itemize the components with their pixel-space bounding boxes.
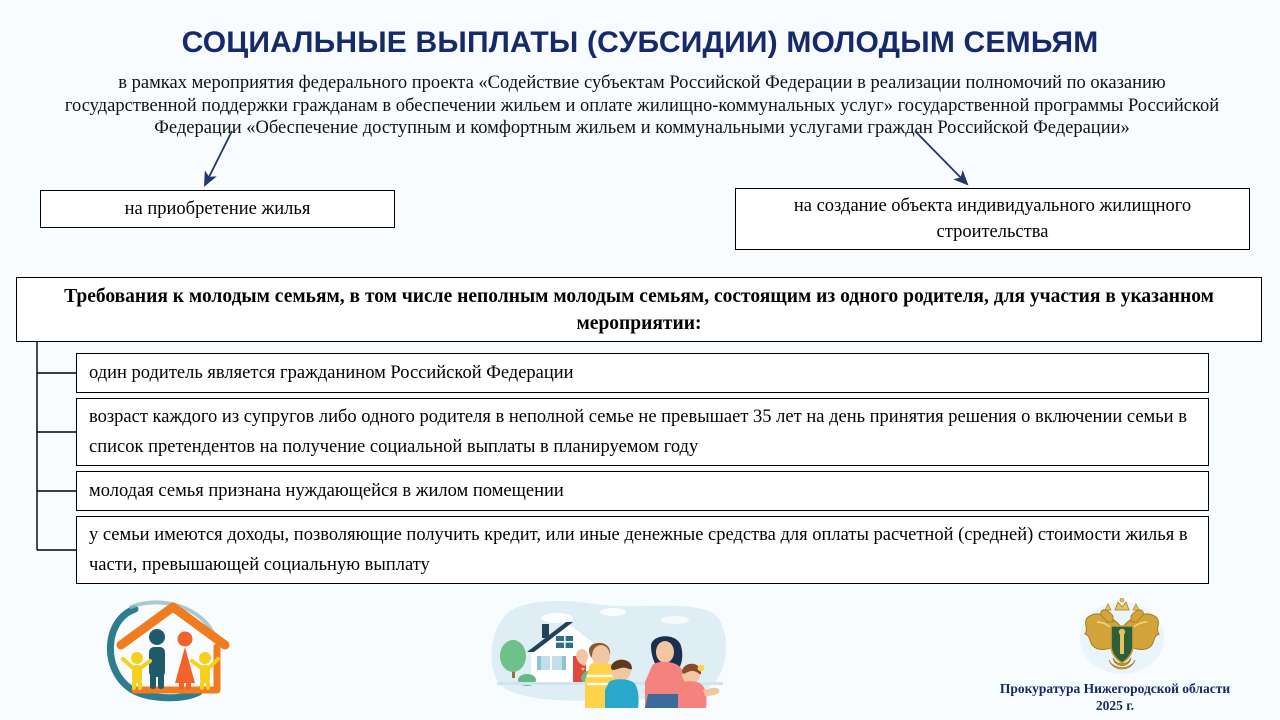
family-in-front-of-house-illustration [485, 598, 735, 708]
page-title: СОЦИАЛЬНЫЕ ВЫПЛАТЫ (СУБСИДИИ) МОЛОДЫМ СЕ… [0, 26, 1280, 60]
requirements-header-box: Требования к молодым семьям, в том числе… [16, 277, 1262, 342]
footer-organization: Прокуратура Нижегородской области [955, 680, 1275, 697]
family-house-logo-icon [95, 597, 245, 703]
purpose-box-individual-construction-label: на создание объекта индивидуального жили… [746, 193, 1239, 245]
page-subtitle: в рамках мероприятия федерального проект… [52, 72, 1232, 140]
purpose-box-home-purchase: на приобретение жилья [40, 190, 395, 228]
requirement-text: молодая семья признана нуждающейся в жил… [89, 476, 1198, 506]
footer-year: 2025 г. [955, 697, 1275, 714]
requirement-text: один родитель является гражданином Росси… [89, 358, 1198, 388]
requirement-text: у семьи имеются доходы, позволяющие полу… [89, 520, 1198, 580]
purpose-box-individual-construction: на создание объекта индивидуального жили… [735, 188, 1250, 250]
requirement-text: возраст каждого из супругов либо одного … [89, 402, 1198, 462]
purpose-box-home-purchase-label: на приобретение жилья [125, 198, 311, 221]
russian-prosecutor-double-headed-eagle-emblem [1079, 598, 1165, 676]
requirement-box: один родитель является гражданином Росси… [76, 353, 1209, 393]
slide: СОЦИАЛЬНЫЕ ВЫПЛАТЫ (СУБСИДИИ) МОЛОДЫМ СЕ… [0, 0, 1280, 720]
requirement-box: у семьи имеются доходы, позволяющие полу… [76, 516, 1209, 584]
requirements-header-label: Требования к молодым семьям, в том числе… [51, 283, 1227, 337]
requirement-box: молодая семья признана нуждающейся в жил… [76, 471, 1209, 511]
footer-credit: Прокуратура Нижегородской области 2025 г… [955, 680, 1275, 714]
requirement-box: возраст каждого из супругов либо одного … [76, 398, 1209, 466]
